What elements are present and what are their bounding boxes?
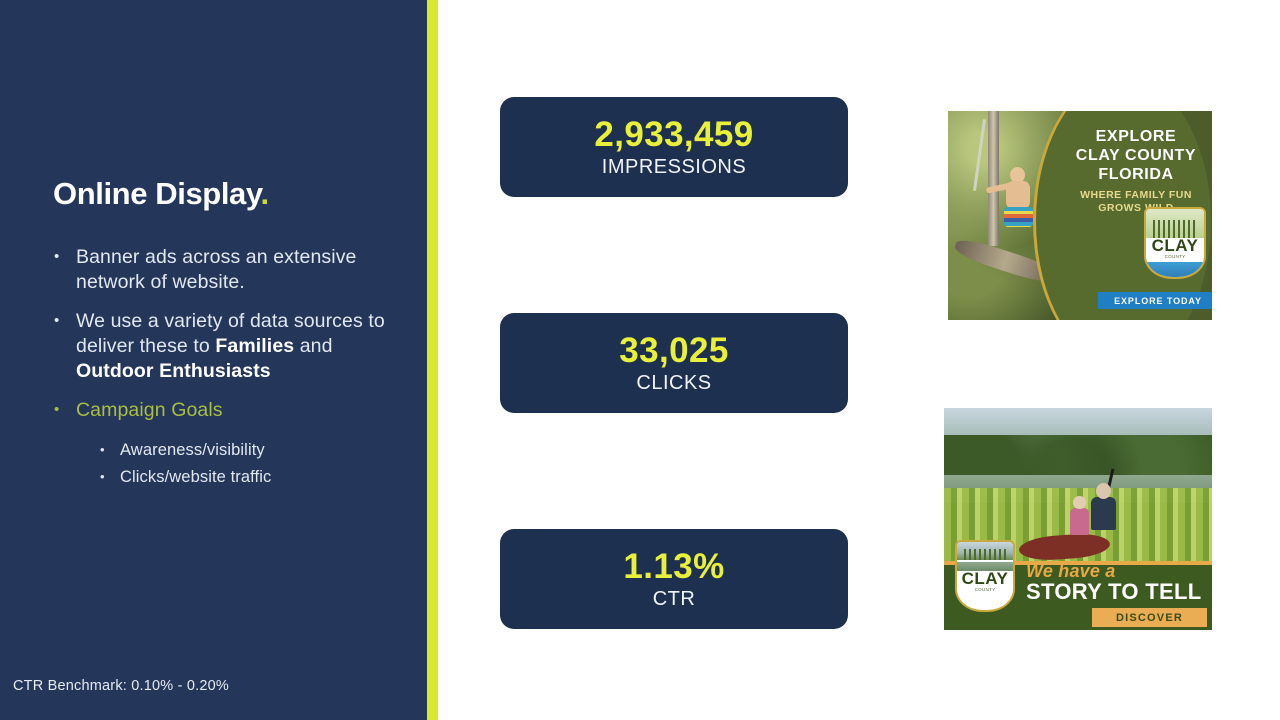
list-item: We use a variety of data sources to deli…: [50, 309, 398, 384]
stat-label: CTR: [653, 587, 696, 612]
ad-tagline-line1: WHERE FAMILY FUN: [1066, 189, 1206, 202]
list-item-campaign-goals: Campaign Goals: [50, 398, 398, 423]
rope-swing-line: [973, 119, 986, 191]
stat-value: 2,933,459: [594, 115, 753, 154]
swinger-torso: [1006, 181, 1030, 209]
stat-card-column: 2,933,459 IMPRESSIONS 33,025 CLICKS 1.13…: [500, 0, 848, 720]
bullet-text-middle: and: [294, 335, 332, 357]
clay-county-logo: CLAY COUNTY: [955, 540, 1015, 612]
ctr-benchmark-footnote: CTR Benchmark: 0.10% - 0.20%: [13, 678, 229, 694]
bullet-text: Banner ads across an extensive network o…: [76, 246, 357, 293]
stat-card-ctr: 1.13% CTR: [500, 529, 848, 629]
sub-list-item: Clicks/website traffic: [98, 464, 398, 491]
page-title-text: Online Display: [53, 176, 260, 211]
logo-subtitle: COUNTY: [957, 587, 1013, 592]
stat-label: CLICKS: [636, 371, 711, 396]
ad-headline-line1: EXPLORE: [1066, 127, 1206, 146]
left-info-panel: Online Display. Banner ads across an ext…: [0, 0, 427, 720]
logo-water-band: [1146, 262, 1204, 277]
title-accent-dot: .: [260, 176, 268, 211]
bullet-list: Banner ads across an extensive network o…: [50, 245, 398, 491]
ad-cta-button-explore-today[interactable]: EXPLORE TODAY: [1098, 292, 1212, 309]
stat-card-clicks: 33,025 CLICKS: [500, 313, 848, 413]
bullet-bold-families: Families: [215, 335, 294, 357]
sub-bullet-text: Clicks/website traffic: [120, 468, 271, 486]
ad-cta-button-discover[interactable]: DISCOVER: [1092, 608, 1207, 627]
ad-headline: EXPLORE CLAY COUNTY FLORIDA: [1066, 127, 1206, 184]
kayaker-adult: [1091, 497, 1115, 530]
ad-creative-story-to-tell: CLAY COUNTY We have a STORY TO TELL DISC…: [944, 408, 1212, 630]
sub-bullet-text: Awareness/visibility: [120, 441, 265, 459]
stat-value: 33,025: [619, 331, 728, 370]
ad-headline-line3: FLORIDA: [1066, 165, 1206, 184]
stat-card-impressions: 2,933,459 IMPRESSIONS: [500, 97, 848, 197]
logo-subtitle: COUNTY: [1146, 254, 1204, 259]
logo-water-band: [957, 562, 1013, 571]
ad-content-area: EXPLORE CLAY COUNTY FLORIDA WHERE FAMILY…: [1066, 111, 1212, 320]
swinger-shorts: [1004, 207, 1033, 227]
page-title: Online Display.: [53, 176, 269, 212]
list-item: Banner ads across an extensive network o…: [50, 245, 398, 295]
clay-county-logo: CLAY COUNTY: [1144, 207, 1206, 279]
kayaker-child: [1070, 508, 1089, 535]
logo-skyline-art: [957, 542, 1013, 560]
tree-trunk: [988, 111, 999, 246]
ad-headline-line2: CLAY COUNTY: [1066, 146, 1206, 165]
stat-label: IMPRESSIONS: [602, 155, 746, 180]
sub-bullet-list: Awareness/visibility Clicks/website traf…: [50, 437, 398, 491]
ad-creative-explore-clay-county: EXPLORE CLAY COUNTY FLORIDA WHERE FAMILY…: [948, 111, 1212, 320]
sub-list-item: Awareness/visibility: [98, 437, 398, 464]
logo-skyline-art: [1146, 209, 1204, 238]
stat-value: 1.13%: [623, 547, 724, 586]
ad-headline-bold: STORY TO TELL: [1026, 579, 1201, 605]
bullet-text: Campaign Goals: [76, 399, 223, 421]
accent-stripe-divider: [427, 0, 438, 720]
bullet-bold-outdoor-enthusiasts: Outdoor Enthusiasts: [76, 360, 271, 382]
